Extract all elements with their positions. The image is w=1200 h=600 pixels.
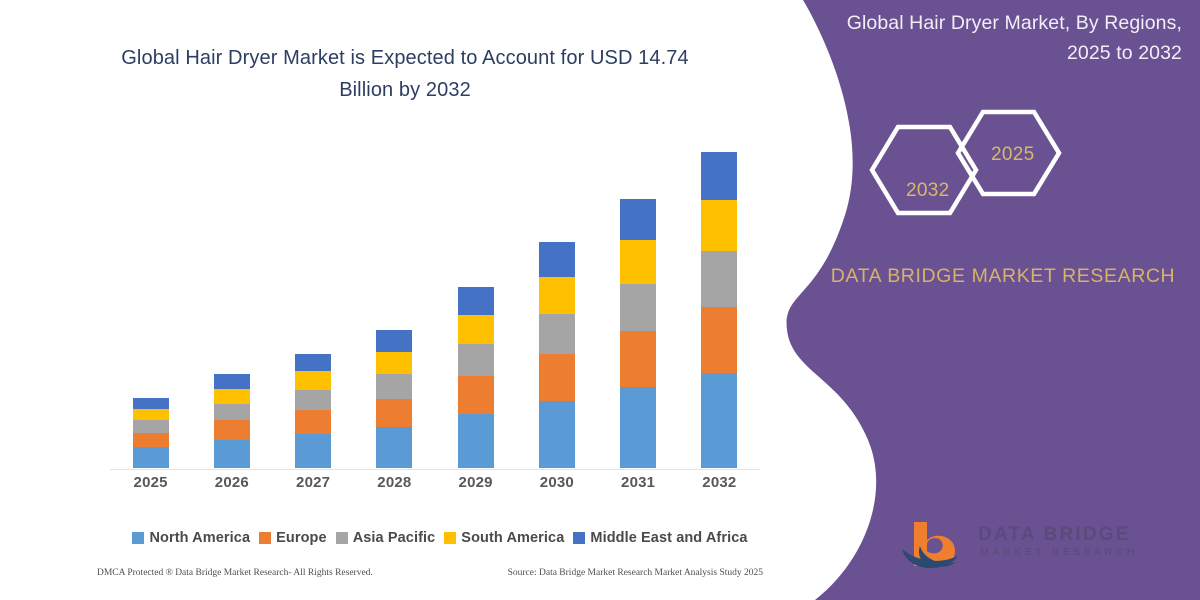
bar-segment[interactable] [701,152,737,200]
panel-title: Global Hair Dryer Market, By Regions, 20… [820,8,1182,68]
x-axis-tick-label: 2026 [191,474,272,491]
bar-segment[interactable] [620,199,656,240]
chart-title: Global Hair Dryer Market is Expected to … [95,42,715,106]
footer-source: Source: Data Bridge Market Research Mark… [508,568,763,578]
bar-slot [679,139,760,469]
bar-segment[interactable] [214,374,250,388]
x-axis-tick-label: 2027 [273,474,354,491]
bar-segment[interactable] [295,410,331,434]
bar-segment[interactable] [376,374,412,399]
legend-swatch-icon [336,532,348,544]
legend-item[interactable]: Asia Pacific [336,530,436,546]
footer-copyright: DMCA Protected ® Data Bridge Market Rese… [97,568,373,578]
stacked-bar[interactable] [133,398,169,469]
bar-segment[interactable] [539,242,575,277]
logo-text-sub: MARKET RESEARCH [980,546,1138,558]
purple-panel-content: Global Hair Dryer Market, By Regions, 20… [800,0,1200,600]
bar-segment[interactable] [458,376,494,414]
legend-label: Europe [276,530,327,546]
bar-segment[interactable] [539,354,575,401]
legend-label: Middle East and Africa [590,530,747,546]
stacked-bar[interactable] [376,330,412,468]
bar-segment[interactable] [376,399,412,428]
hexagon-group: 2025 2032 [850,108,1080,233]
bar-slot [110,139,191,469]
x-axis-tick-label: 2030 [516,474,597,491]
bar-segment[interactable] [539,314,575,354]
bar-segment[interactable] [295,354,331,371]
legend-item[interactable]: North America [132,530,250,546]
bar-segment[interactable] [214,389,250,404]
bar-slot [516,139,597,469]
bar-segment[interactable] [133,420,169,432]
bar-segment[interactable] [620,331,656,387]
bar-segment[interactable] [458,344,494,376]
legend-swatch-icon [573,532,585,544]
x-axis-tick-label: 2025 [110,474,191,491]
bar-segment[interactable] [214,404,250,420]
x-axis-tick-label: 2032 [679,474,760,491]
bar-segment[interactable] [376,427,412,468]
bar-segment[interactable] [295,390,331,410]
logo-text-main: DATA BRIDGE [978,524,1131,546]
stacked-bar[interactable] [295,354,331,469]
legend-swatch-icon [132,532,144,544]
bar-slot [273,139,354,469]
brand-name: DATA BRIDGE MARKET RESEARCH [824,262,1182,290]
stacked-bar[interactable] [458,287,494,468]
bar-segment[interactable] [620,387,656,468]
bar-segment[interactable] [214,420,250,439]
bar-slot [191,139,272,469]
x-axis-tick-label: 2029 [435,474,516,491]
bar-segment[interactable] [701,373,737,468]
x-axis-labels: 20252026202720282029203020312032 [110,474,760,498]
legend-swatch-icon [259,532,271,544]
bar-slot [435,139,516,469]
bar-segment[interactable] [214,440,250,469]
bar-segment[interactable] [133,433,169,447]
x-axis-tick-label: 2031 [598,474,679,491]
bar-segment[interactable] [133,447,169,469]
footer: DMCA Protected ® Data Bridge Market Rese… [95,568,775,578]
bar-segment[interactable] [376,330,412,352]
bar-segment[interactable] [701,251,737,306]
hexagon-label-2025: 2025 [991,144,1034,166]
stacked-bar[interactable] [214,374,250,468]
stacked-bar[interactable] [620,199,656,469]
stacked-bar[interactable] [539,242,575,469]
bar-segment[interactable] [701,307,737,374]
legend-item[interactable]: Middle East and Africa [573,530,747,546]
bar-slot [598,139,679,469]
legend-label: North America [149,530,250,546]
bar-segment[interactable] [376,352,412,375]
stacked-bar[interactable] [701,152,737,469]
bar-segment[interactable] [458,287,494,315]
bar-segment[interactable] [133,398,169,409]
bar-segment[interactable] [620,284,656,331]
bar-segment[interactable] [295,434,331,469]
bar-segment[interactable] [458,414,494,468]
legend-item[interactable]: South America [444,530,564,546]
chart-plot-area [110,140,760,470]
bar-segment[interactable] [701,200,737,251]
legend-label: South America [461,530,564,546]
bar-segment[interactable] [458,315,494,345]
chart-legend: North AmericaEuropeAsia PacificSouth Ame… [110,530,770,546]
bar-segment[interactable] [295,371,331,389]
legend-item[interactable]: Europe [259,530,327,546]
bar-slot [354,139,435,469]
bar-segment[interactable] [620,240,656,284]
hexagon-label-2032: 2032 [906,180,949,202]
hexagon-outlines [850,108,1080,233]
x-axis-tick-label: 2028 [354,474,435,491]
infographic-root: Global Hair Dryer Market, By Regions, 20… [0,0,1200,600]
x-axis-line [110,469,760,471]
bar-segment[interactable] [133,409,169,420]
data-bridge-logo-icon [900,518,976,570]
bar-segment[interactable] [539,401,575,469]
legend-swatch-icon [444,532,456,544]
brand-logo: DATA BRIDGE MARKET RESEARCH [900,518,1170,578]
legend-label: Asia Pacific [353,530,436,546]
bar-segment[interactable] [539,277,575,314]
